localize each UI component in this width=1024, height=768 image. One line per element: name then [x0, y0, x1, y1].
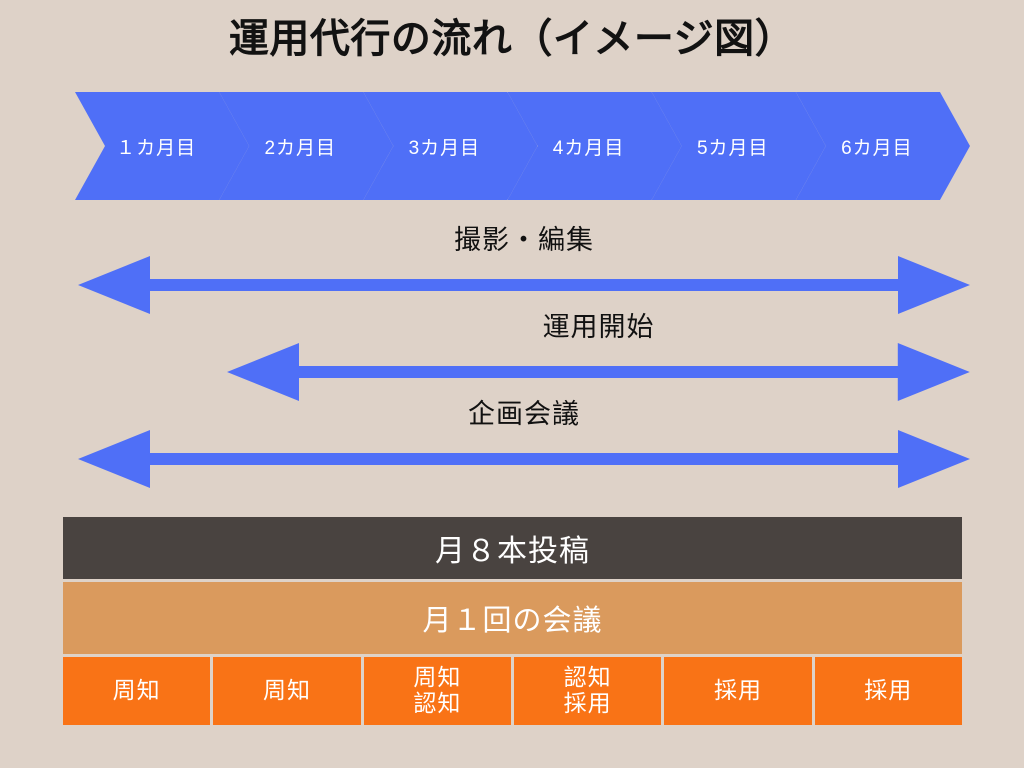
arrow-label: 運用開始 — [227, 305, 970, 344]
phase-cell-line: 周知 — [113, 678, 161, 704]
phase-cell-line: 採用 — [714, 678, 762, 704]
meetings-per-month-bar: 月１回の会議 — [63, 582, 962, 654]
posts-per-month-bar: 月８本投稿 — [63, 517, 962, 579]
phase-cell-line: 認知 — [564, 665, 612, 691]
meetings-per-month-label: 月１回の会議 — [422, 597, 602, 639]
posts-per-month-label: 月８本投稿 — [435, 526, 590, 570]
phase-row: 周知周知周知認知認知採用採用採用 — [63, 657, 962, 725]
page-title: 運用代行の流れ（イメージ図） — [0, 14, 1024, 64]
arrow-row-3: 企画会議 — [78, 392, 970, 488]
phase-cell-4[interactable]: 認知採用 — [514, 657, 661, 725]
timeline-chevron-label: 4カ月目 — [553, 133, 625, 160]
arrow-label: 企画会議 — [78, 392, 970, 431]
phase-cell-line: 採用 — [564, 691, 612, 717]
phase-cell-line: 周知 — [413, 665, 461, 691]
timeline-chevron-label: １カ月目 — [116, 133, 196, 160]
phase-cell-line: 認知 — [413, 691, 461, 717]
arrow-row-2: 運用開始 — [227, 305, 970, 401]
phase-cell-1[interactable]: 周知 — [63, 657, 210, 725]
timeline-chevron-band: １カ月目2カ月目3カ月目4カ月目5カ月目6カ月目 — [75, 92, 970, 200]
arrow-row-1: 撮影・編集 — [78, 218, 970, 314]
double-headed-arrow — [78, 430, 970, 488]
phase-cell-2[interactable]: 周知 — [213, 657, 360, 725]
timeline-chevron-label: 5カ月目 — [697, 133, 769, 160]
timeline-chevron-1[interactable]: １カ月目 — [75, 92, 249, 200]
phase-cell-line: 採用 — [864, 678, 912, 704]
phase-cell-line: 周知 — [263, 678, 311, 704]
timeline-chevron-label: 2カ月目 — [264, 133, 336, 160]
timeline-chevron-label: 6カ月目 — [841, 133, 913, 160]
phase-cell-5[interactable]: 採用 — [664, 657, 811, 725]
phase-cell-3[interactable]: 周知認知 — [364, 657, 511, 725]
timeline-chevron-label: 3カ月目 — [409, 133, 481, 160]
phase-cell-6[interactable]: 採用 — [815, 657, 962, 725]
arrow-label: 撮影・編集 — [78, 218, 970, 257]
summary-table: 月８本投稿 月１回の会議 周知周知周知認知認知採用採用採用 — [63, 517, 962, 725]
